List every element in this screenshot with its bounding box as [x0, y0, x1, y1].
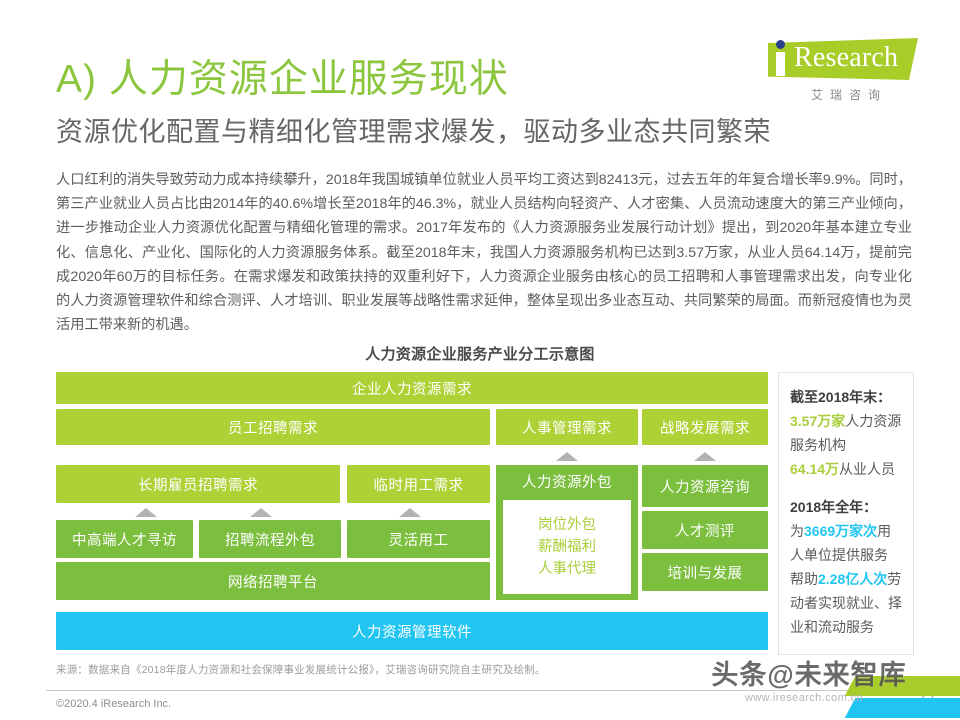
- stat-agencies-label-b: 服务机构: [790, 437, 846, 453]
- diagram-box-rpo: 招聘流程外包: [199, 520, 341, 558]
- stat-employees-label: 从业人员: [839, 461, 895, 477]
- diagram-box-training-development: 培训与发展: [642, 553, 768, 591]
- stat-employees-count: 64.14万: [790, 461, 839, 477]
- slide-root: Research 艾瑞咨询 A) 人力资源企业服务现状 资源优化配置与精细化管理…: [0, 0, 960, 720]
- logo-chinese-name: 艾瑞咨询: [774, 86, 924, 103]
- diagram-title: 人力资源企业服务产业分工示意图: [0, 343, 960, 364]
- stats-block-2018-full-year: 2018年全年： 为3669万家次用 人单位提供服务 帮助2.28亿人次劳 动者…: [790, 495, 903, 639]
- diagram-outsourcing-items: 岗位外包 薪酬福利 人事代理: [503, 500, 631, 594]
- logo-i-bar-icon: [776, 52, 785, 76]
- arrow-up-icon-headhunting: [135, 508, 157, 517]
- stat-agencies-count: 3.57万家: [790, 413, 845, 429]
- diagram-box-hr-consulting: 人力资源咨询: [642, 465, 768, 507]
- source-note: 来源：数据来自《2018年度人力资源和社会保障事业发展统计公报》，艾瑞咨询研究院…: [56, 662, 546, 677]
- stat-text-4: 动者实现就业、择: [790, 595, 902, 611]
- diagram-box-temp-labor: 临时用工需求: [347, 465, 490, 503]
- watermark-url: www.iresearch.com.cn: [714, 692, 894, 704]
- diagram-box-longterm-hiring: 长期雇员招聘需求: [56, 465, 340, 503]
- diagram-box-top-demand: 企业人力资源需求: [56, 372, 768, 404]
- diagram-box-strategy-demand: 战略发展需求: [642, 409, 768, 445]
- page-subtitle: 资源优化配置与精细化管理需求爆发，驱动多业态共同繁荣: [56, 110, 771, 149]
- outsourcing-item-0: 岗位外包: [538, 514, 596, 536]
- stat-text-2: 人单位提供服务: [790, 547, 888, 563]
- logo-mark: Research: [752, 36, 922, 84]
- body-paragraph: 人口红利的消失导致劳动力成本持续攀升，2018年我国城镇单位就业人员平均工资达到…: [56, 168, 912, 337]
- arrow-up-icon-outsourcing: [556, 452, 578, 461]
- page-title: A) 人力资源企业服务现状: [56, 48, 509, 104]
- stat-text-1: 用: [877, 523, 891, 539]
- stat-agencies-label-a: 人力资源: [845, 413, 901, 429]
- stat-employers-served: 3669万家次: [804, 523, 877, 539]
- stat-text-5: 业和流动服务: [790, 619, 874, 635]
- outsourcing-item-2: 人事代理: [538, 558, 596, 580]
- diagram-box-flexible-staffing: 灵活用工: [347, 520, 490, 558]
- stats-heading-2: 2018年全年：: [790, 499, 877, 515]
- stat-prefix-2: 帮助: [790, 571, 818, 587]
- diagram-box-hr-outsourcing: 人力资源外包: [496, 465, 638, 497]
- diagram-box-executive-search: 中高端人才寻访: [56, 520, 193, 558]
- outsourcing-item-1: 薪酬福利: [538, 536, 596, 558]
- diagram-box-hr-management-demand: 人事管理需求: [496, 409, 638, 445]
- watermark-text: 头条@未来智库: [694, 653, 924, 692]
- iresearch-logo: Research 艾瑞咨询: [752, 36, 922, 108]
- arrow-up-icon-flexible: [399, 508, 421, 517]
- diagram-box-online-recruitment-platform: 网络招聘平台: [56, 562, 490, 600]
- stats-panel: 截至2018年末： 3.57万家人力资源 服务机构 64.14万从业人员 201…: [778, 372, 914, 655]
- stat-text-3: 劳: [887, 571, 901, 587]
- industry-diagram: 企业人力资源需求 员工招聘需求 人事管理需求 战略发展需求 长期雇员招聘需求 临…: [56, 372, 768, 655]
- stat-workers-helped: 2.28亿人次: [818, 571, 887, 587]
- logo-wordmark: Research: [794, 42, 898, 74]
- diagram-box-hr-software: 人力资源管理软件: [56, 612, 768, 650]
- diagram-box-recruitment-demand: 员工招聘需求: [56, 409, 490, 445]
- diagram-box-talent-assessment: 人才测评: [642, 511, 768, 549]
- logo-i-dot-icon: [776, 40, 785, 49]
- arrow-up-icon-consulting: [694, 452, 716, 461]
- stat-prefix-1: 为: [790, 523, 804, 539]
- stats-block-2018-end: 截至2018年末： 3.57万家人力资源 服务机构 64.14万从业人员: [790, 385, 903, 481]
- arrow-up-icon-rpo: [250, 508, 272, 517]
- stats-heading-1: 截至2018年末：: [790, 389, 891, 405]
- copyright-text: ©2020.4 iResearch Inc.: [56, 698, 171, 710]
